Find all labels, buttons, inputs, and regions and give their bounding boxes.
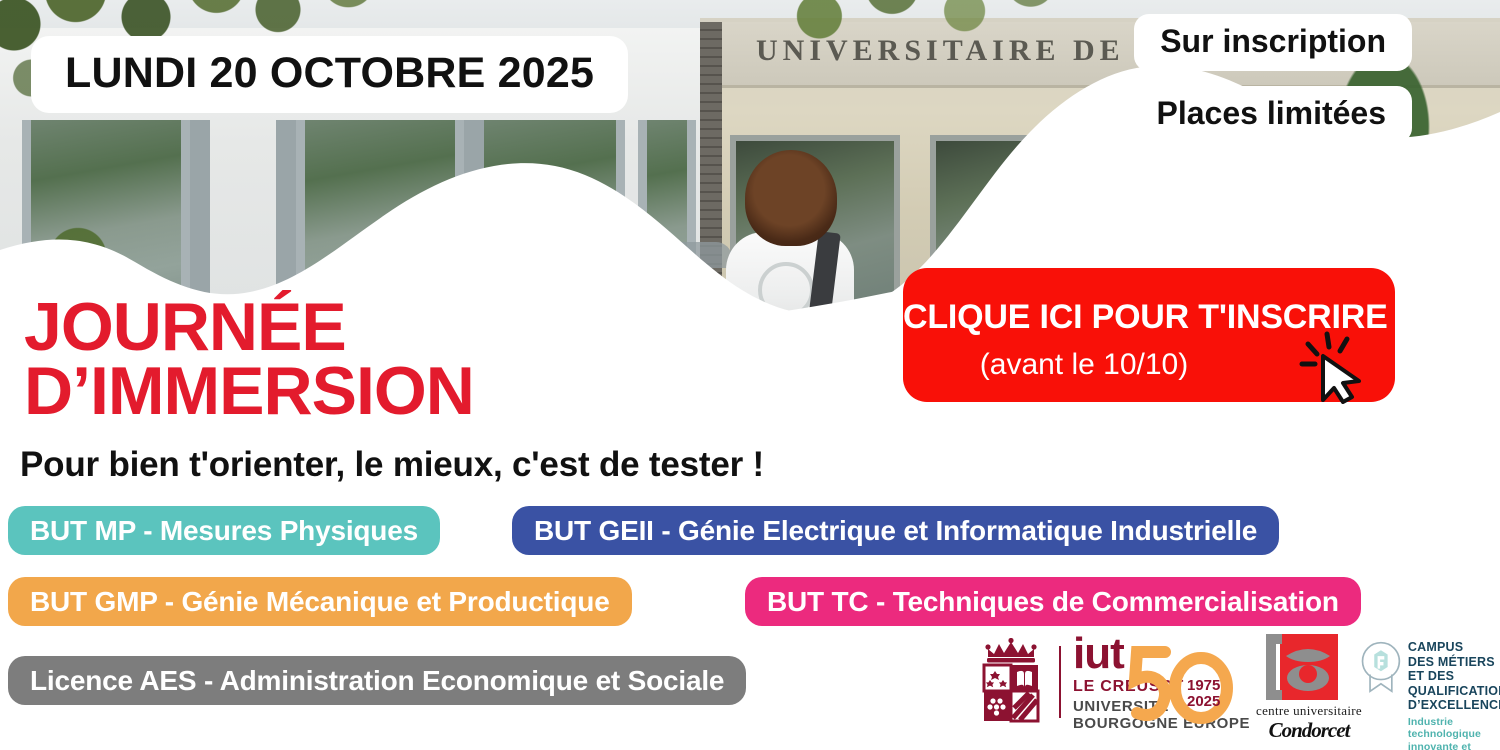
logo-iut-le-creusot: iut LE CREUSOT UNIVERSITÉ BOURGOGNE EURO…	[975, 636, 1250, 732]
anniversary-years: 1975 2025	[1187, 678, 1220, 710]
campus-sub-1: Industrie technologique	[1408, 716, 1500, 742]
event-date-badge: LUNDI 20 OCTOBRE 2025	[31, 36, 628, 113]
partner-logos: iut LE CREUSOT UNIVERSITÉ BOURGOGNE EURO…	[975, 634, 1495, 746]
badge-places-limitees: Places limitées	[1131, 86, 1412, 143]
campus-line-5: D’EXCELLENCE	[1408, 698, 1500, 713]
campus-line-2: DES MÉTIERS	[1408, 655, 1500, 670]
badge-sur-inscription: Sur inscription	[1134, 14, 1412, 71]
logo-centre-universitaire-condorcet: centre universitaire Condorcet	[1253, 634, 1365, 743]
university-crest-icon	[975, 638, 1047, 730]
program-pill-mp[interactable]: BUT MP - Mesures Physiques	[8, 506, 440, 555]
condorcet-mark-icon	[1266, 634, 1352, 700]
campus-sub-2: innovante et performante	[1408, 741, 1500, 750]
condorcet-signature: Condorcet	[1253, 718, 1365, 743]
program-pill-geii[interactable]: BUT GEII - Génie Electrique et Informati…	[512, 506, 1279, 555]
anniversary-50-icon: 1975 2025	[1125, 644, 1237, 724]
program-pill-aes[interactable]: Licence AES - Administration Economique …	[8, 656, 746, 705]
immersion-day-poster: UNIVERSITAIRE DE LUNDI 20 OCTOBRE 2025 S…	[0, 0, 1500, 750]
register-cta-button[interactable]: CLIQUE ICI POUR T'INSCRIRE ! (avant le 1…	[903, 268, 1395, 402]
anniversary-year-from: 1975	[1187, 678, 1220, 694]
mouse-cursor-click-icon	[1297, 330, 1375, 404]
campus-text-block: CAMPUS DES MÉTIERS ET DES QUALIFICATIONS…	[1408, 636, 1500, 750]
title-line-2: D’IMMERSION	[24, 360, 474, 424]
logo-campus-des-metiers: CAMPUS DES MÉTIERS ET DES QUALIFICATIONS…	[1360, 636, 1500, 750]
cta-deadline-label: (avant le 10/10)	[903, 348, 1265, 382]
program-pill-gmp[interactable]: BUT GMP - Génie Mécanique et Productique	[8, 577, 632, 626]
campus-line-1: CAMPUS	[1408, 640, 1500, 655]
campus-badge-icon	[1360, 636, 1402, 698]
campus-line-3: ET DES	[1408, 669, 1500, 684]
title-line-1: JOURNÉE	[24, 296, 474, 360]
anniversary-year-to: 2025	[1187, 694, 1220, 710]
condorcet-line1: centre universitaire	[1253, 703, 1365, 719]
campus-line-4: QUALIFICATIONS	[1408, 684, 1500, 699]
page-title: JOURNÉE D’IMMERSION	[24, 296, 474, 424]
page-subtitle: Pour bien t'orienter, le mieux, c'est de…	[20, 445, 764, 485]
program-pill-tc[interactable]: BUT TC - Techniques de Commercialisation	[745, 577, 1361, 626]
